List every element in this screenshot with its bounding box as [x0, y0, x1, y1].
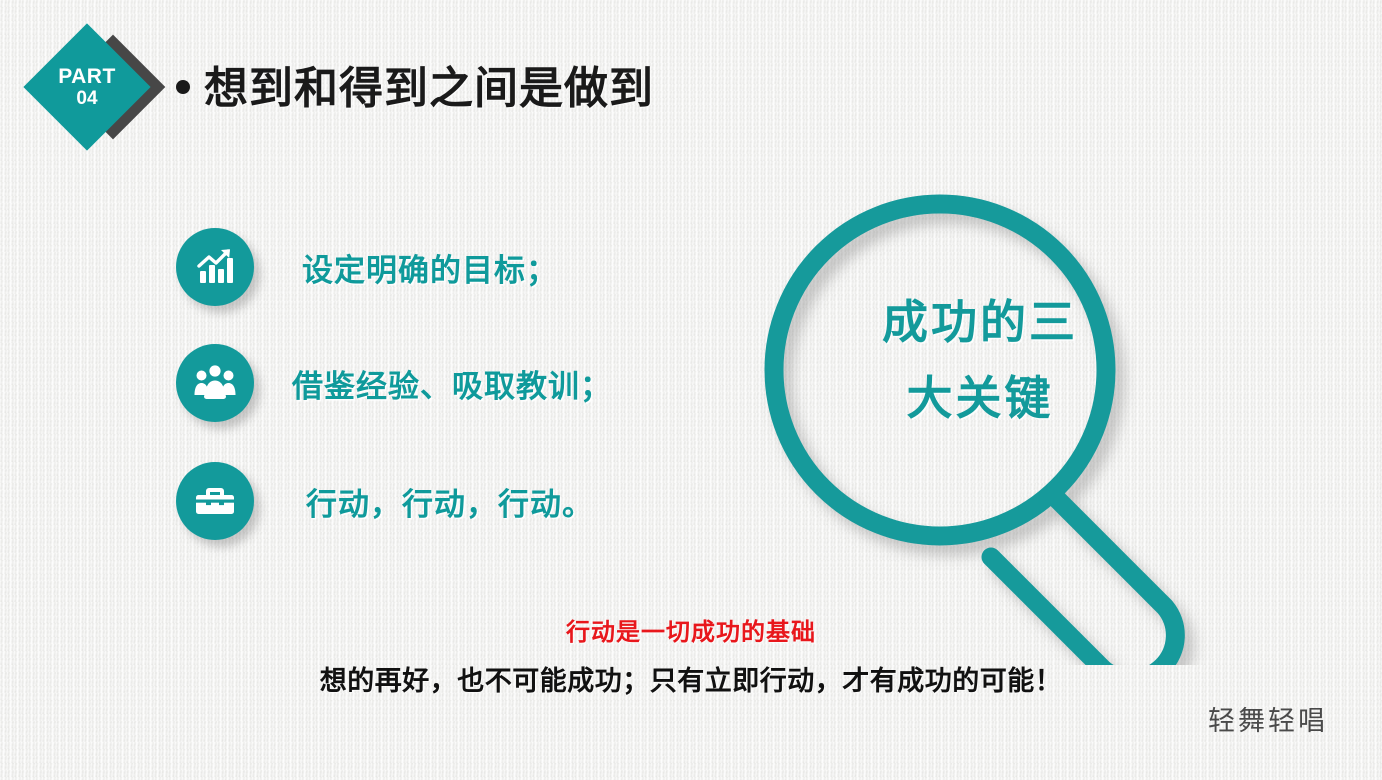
footer-notes: 行动是一切成功的基础 想的再好，也不可能成功；只有立即行动，才有成功的可能！: [0, 612, 1382, 698]
magnifier-label-line2: 大关键: [815, 361, 1145, 437]
magnifier-icon: 成功的三 大关键: [735, 165, 1295, 665]
key-points-list: 设定明确的目标； 借鉴经验、吸取教训；: [176, 222, 736, 572]
list-item-label: 设定明确的目标；: [302, 245, 558, 290]
part-badge: PART 04: [28, 28, 178, 146]
list-item-label: 行动，行动，行动。: [306, 479, 594, 524]
magnifier-label: 成功的三 大关键: [815, 285, 1145, 437]
list-item[interactable]: 行动，行动，行动。: [176, 456, 736, 546]
footer-sub-text: 想的再好，也不可能成功；只有立即行动，才有成功的可能！: [0, 659, 1382, 698]
diamond-shape-front-icon: [23, 23, 150, 150]
page-title-row: 想到和得到之间是做到: [176, 52, 654, 116]
list-item[interactable]: 设定明确的目标；: [176, 222, 736, 312]
watermark: 轻舞轻唱: [1208, 699, 1328, 738]
people-group-icon: [176, 344, 254, 422]
growth-chart-icon: [176, 228, 254, 306]
bullet-dot-icon: [176, 80, 190, 94]
page-title: 想到和得到之间是做到: [204, 52, 654, 116]
briefcase-icon: [176, 462, 254, 540]
magnifier-label-line1: 成功的三: [815, 285, 1145, 361]
slide-canvas: PART 04 想到和得到之间是做到: [0, 0, 1382, 780]
list-item[interactable]: 借鉴经验、吸取教训；: [176, 338, 736, 428]
footer-highlight-text: 行动是一切成功的基础: [0, 612, 1382, 647]
list-item-label: 借鉴经验、吸取教训；: [292, 361, 612, 406]
